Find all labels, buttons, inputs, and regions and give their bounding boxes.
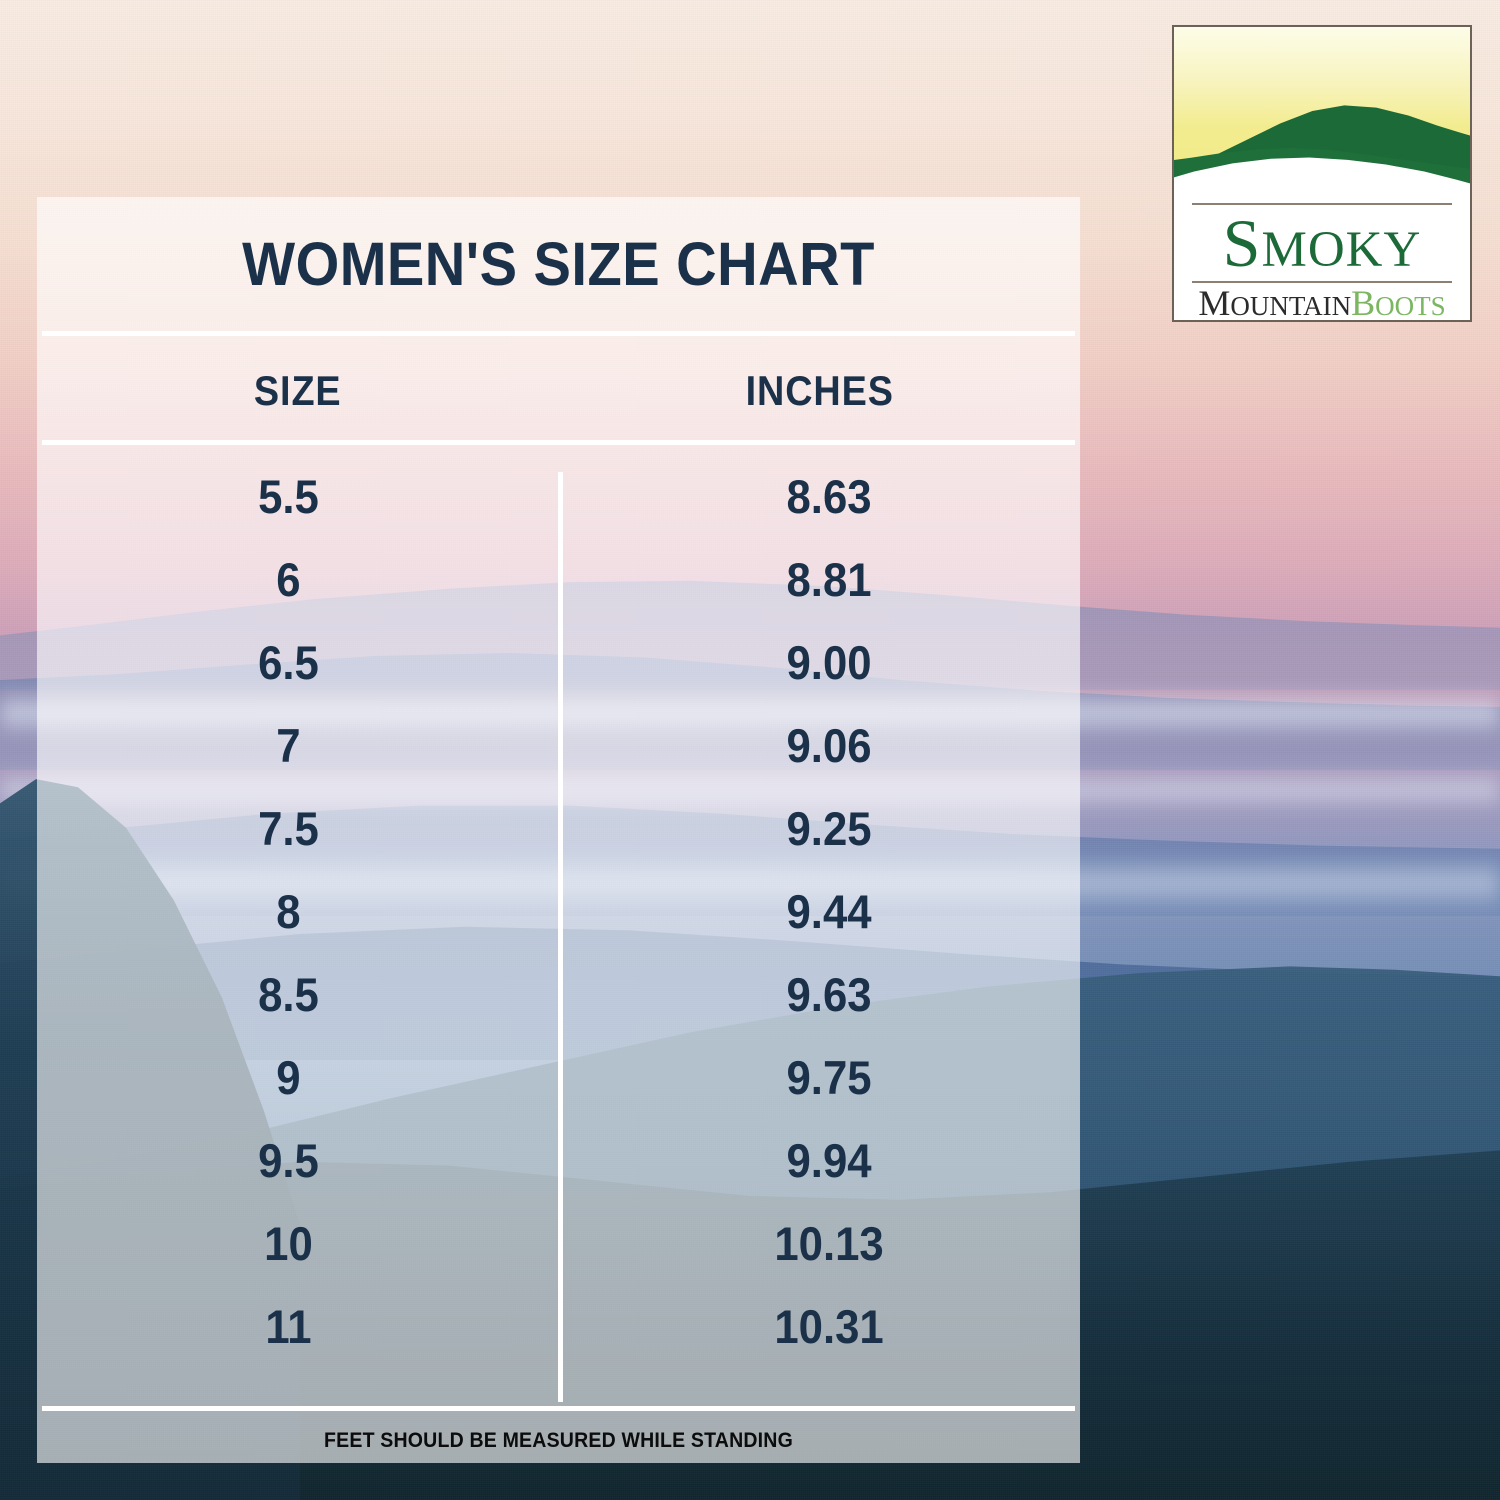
divider-below-header — [42, 440, 1075, 445]
cell-inches: 9.06 — [577, 718, 1062, 773]
cell-size: 8 — [55, 884, 540, 939]
logo-wordmark-mountainboots: MOUNTAINBOOTS — [1174, 285, 1470, 321]
cell-size: 11 — [55, 1299, 540, 1354]
table-row: 9 9.75 — [37, 1036, 1080, 1119]
cell-inches: 9.94 — [577, 1133, 1062, 1188]
logo-rule-bottom — [1192, 281, 1452, 283]
table-row: 6.5 9.00 — [37, 621, 1080, 704]
table-body: 5.5 8.63 6 8.81 6.5 9.00 7 9.06 7.5 9.25… — [37, 455, 1080, 1368]
table-row: 7 9.06 — [37, 704, 1080, 787]
cell-inches: 9.25 — [577, 801, 1062, 856]
table-row: 8.5 9.63 — [37, 953, 1080, 1036]
size-chart-graphic: SMOKY MOUNTAINBOOTS WOMEN'S SIZE CHART S… — [0, 0, 1500, 1500]
cell-size: 10 — [55, 1216, 540, 1271]
table-row: 11 10.31 — [37, 1285, 1080, 1368]
size-chart-card: WOMEN'S SIZE CHART SIZE INCHES 5.5 8.63 … — [37, 197, 1080, 1463]
cell-size: 5.5 — [55, 469, 540, 524]
divider-above-note — [42, 1406, 1075, 1411]
column-header-inches: INCHES — [585, 347, 1054, 435]
cell-inches: 9.44 — [577, 884, 1062, 939]
table-row: 10 10.13 — [37, 1202, 1080, 1285]
cell-size: 9 — [55, 1050, 540, 1105]
cell-inches: 8.63 — [577, 469, 1062, 524]
table-row: 8 9.44 — [37, 870, 1080, 953]
column-header-size: SIZE — [63, 347, 532, 435]
table-row: 7.5 9.25 — [37, 787, 1080, 870]
logo-smoky-rest: MOKY — [1261, 222, 1421, 278]
cell-inches: 9.63 — [577, 967, 1062, 1022]
measurement-note: FEET SHOULD BE MEASURED WHILE STANDING — [74, 1429, 1044, 1453]
logo-mountain-scene-icon — [1174, 27, 1470, 195]
logo-smoky-initial: S — [1223, 205, 1262, 281]
cell-size: 7 — [55, 718, 540, 773]
logo-wordmark-smoky: SMOKY — [1174, 209, 1470, 277]
page-title: WOMEN'S SIZE CHART — [79, 229, 1039, 299]
table-row: 9.5 9.94 — [37, 1119, 1080, 1202]
cell-size: 6.5 — [55, 635, 540, 690]
smoky-mountain-boots-logo: SMOKY MOUNTAINBOOTS — [1172, 25, 1472, 322]
cell-size: 6 — [55, 552, 540, 607]
table-row: 6 8.81 — [37, 538, 1080, 621]
cell-size: 7.5 — [55, 801, 540, 856]
cell-inches: 10.13 — [577, 1216, 1062, 1271]
cell-inches: 10.31 — [577, 1299, 1062, 1354]
table-header-row: SIZE INCHES — [37, 347, 1080, 435]
cell-inches: 9.75 — [577, 1050, 1062, 1105]
cell-inches: 9.00 — [577, 635, 1062, 690]
logo-mountain-rest: OUNTAIN — [1230, 291, 1351, 321]
cell-inches: 8.81 — [577, 552, 1062, 607]
table-row: 5.5 8.63 — [37, 455, 1080, 538]
cell-size: 9.5 — [55, 1133, 540, 1188]
divider-above-header — [42, 331, 1075, 336]
logo-boots-initial: B — [1351, 283, 1375, 322]
cell-size: 8.5 — [55, 967, 540, 1022]
logo-mountain-initial: M — [1198, 283, 1230, 322]
logo-boots-rest: OOTS — [1375, 291, 1446, 321]
